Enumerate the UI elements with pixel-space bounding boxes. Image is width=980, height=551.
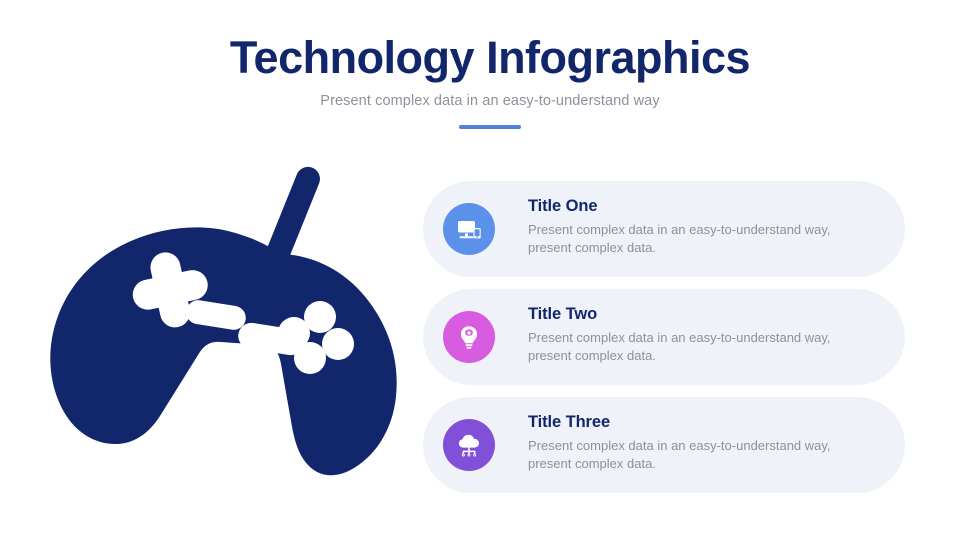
card-title: Title One xyxy=(528,197,883,216)
card-text-block: Title One Present complex data in an eas… xyxy=(528,197,883,258)
page-subtitle: Present complex data in an easy-to-under… xyxy=(0,93,980,109)
card-description: Present complex data in an easy-to-under… xyxy=(528,437,868,474)
lightbulb-gear-icon xyxy=(443,311,495,363)
card-text-block: Title Three Present complex data in an e… xyxy=(528,413,883,474)
accent-divider xyxy=(459,125,521,129)
feature-card-title-two[interactable]: Title Two Present complex data in an eas… xyxy=(423,289,905,385)
card-title: Title Two xyxy=(528,305,883,324)
card-text-block: Title Two Present complex data in an eas… xyxy=(528,305,883,366)
devices-icon xyxy=(443,203,495,255)
card-title: Title Three xyxy=(528,413,883,432)
slide-header: Technology Infographics Present complex … xyxy=(0,34,980,129)
feature-card-title-one[interactable]: Title One Present complex data in an eas… xyxy=(423,181,905,277)
card-description: Present complex data in an easy-to-under… xyxy=(528,221,868,258)
page-title: Technology Infographics xyxy=(0,34,980,81)
feature-card-list: Title One Present complex data in an eas… xyxy=(423,181,905,493)
card-description: Present complex data in an easy-to-under… xyxy=(528,329,868,366)
cloud-computing-icon xyxy=(443,419,495,471)
slide-canvas: Technology Infographics Present complex … xyxy=(0,0,980,551)
game-controller-illustration xyxy=(38,158,410,503)
feature-card-title-three[interactable]: Title Three Present complex data in an e… xyxy=(423,397,905,493)
